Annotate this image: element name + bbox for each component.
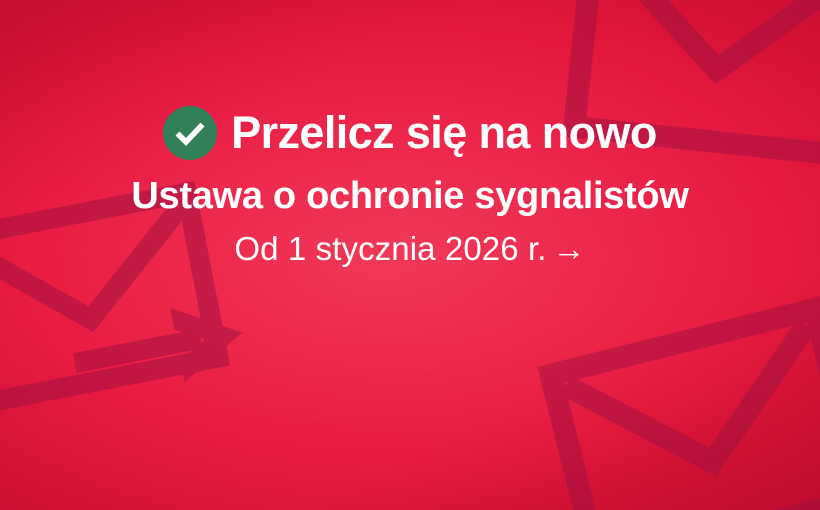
subtitle: Ustawa o ochronie sygnalistów: [131, 174, 688, 218]
right-arrow-icon: →: [553, 230, 586, 268]
check-circle-icon: [163, 106, 217, 160]
effective-date-text: Od 1 stycznia 2026 r.: [234, 230, 546, 267]
promo-banner: Przelicz się na nowo Ustawa o ochronie s…: [0, 0, 820, 510]
banner-content: Przelicz się na nowo Ustawa o ochronie s…: [0, 106, 820, 268]
effective-date-row: Od 1 stycznia 2026 r.→: [234, 230, 585, 268]
headline-row: Przelicz się na nowo: [163, 106, 657, 160]
page-title: Przelicz się na nowo: [231, 109, 657, 158]
